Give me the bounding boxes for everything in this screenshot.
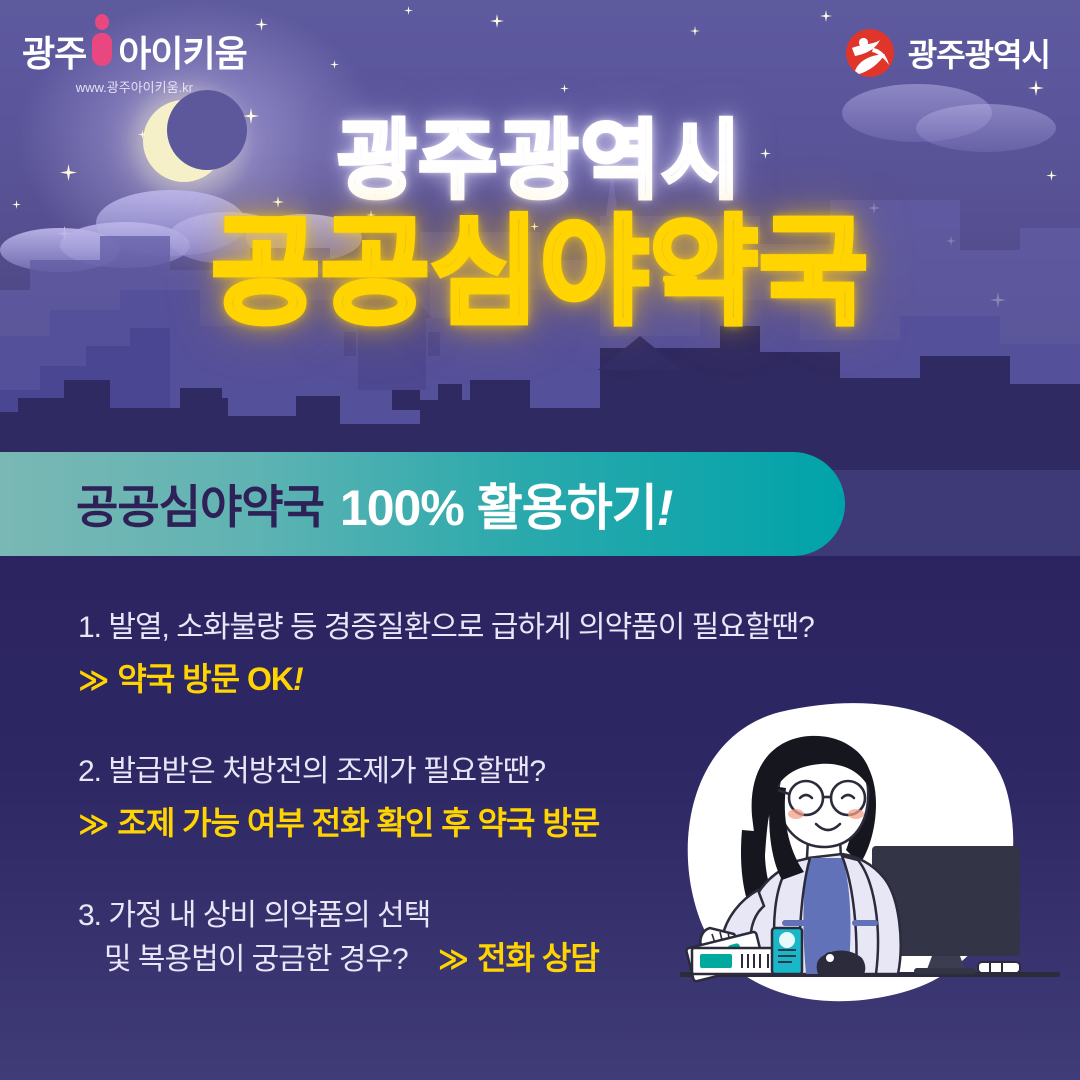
person-figure-icon [89, 24, 115, 66]
logo-url-text: www.광주아이키움.kr [22, 77, 247, 96]
poster-title: 광주광역시 공공심야약국 [0, 118, 1080, 332]
poster-canvas: 광주 아이키움 www.광주아이키움.kr 광주광역시 광주광역시 공공심야약국 [0, 0, 1080, 1080]
star-icon [1028, 80, 1044, 96]
gwangju-city-logo[interactable]: 광주광역시 [845, 28, 1050, 78]
star-icon [560, 84, 569, 93]
answer-row: ≫ 조제 가능 여부 전화 확인 후 약국 방문 [78, 798, 978, 844]
logo-word-a: 광주 [22, 36, 86, 72]
list-item: 3. 가정 내 상비 의약품의 선택 및 복용법이 궁금한 경우? ≫ 전화 상… [78, 896, 978, 979]
answer-row: ≫ 약국 방문 OK! [78, 654, 978, 700]
banner-light-text: 100% 활용하기! [340, 468, 672, 540]
star-icon [330, 60, 339, 69]
question-line2-label: 및 복용법이 궁금한 경우? [104, 940, 408, 980]
title-line-2: 공공심야약국 [0, 214, 1080, 332]
highlight-banner: 공공심야약국 100% 활용하기! [0, 452, 845, 556]
question-text: 3. 가정 내 상비 의약품의 선택 [78, 896, 978, 936]
title-line-1: 광주광역시 [0, 118, 1080, 204]
gwangju-emblem-icon [845, 28, 895, 78]
banner-dark-text: 공공심야약국 [76, 471, 324, 537]
list-item: 1. 발열, 소화불량 등 경증질환으로 급하게 의약품이 필요할땐? ≫ 약국… [78, 608, 978, 700]
logo-word-b: 아이키움 [118, 36, 246, 72]
answer-text: 조제 가능 여부 전화 확인 후 약국 방문 [117, 798, 599, 844]
answer-text: 전화 상담 [477, 937, 599, 980]
star-icon [404, 6, 413, 15]
list-item: 2. 발급받은 처방전의 조제가 필요할땐? ≫ 조제 가능 여부 전화 확인 … [78, 752, 978, 844]
question-text: 1. 발열, 소화불량 등 경증질환으로 급하게 의약품이 필요할땐? [78, 608, 978, 648]
logo-wordmark: 광주 아이키움 [22, 24, 247, 72]
question-text-line2: 및 복용법이 궁금한 경우? ≫ 전화 상담 [78, 937, 978, 980]
question-text: 2. 발급받은 처방전의 조제가 필요할땐? [78, 752, 978, 792]
answer-suffix: ! [293, 661, 303, 697]
banner-exclaim: ! [657, 480, 673, 536]
gwangju-ikium-logo[interactable]: 광주 아이키움 www.광주아이키움.kr [22, 24, 247, 96]
banner-light-label: 100% 활용하기 [340, 480, 657, 536]
star-icon [255, 18, 268, 31]
answer-row: ≫ 전화 상담 [438, 937, 599, 980]
chevron-right-icon: ≫ [438, 945, 468, 975]
star-icon [490, 14, 504, 28]
city-logo-label: 광주광역시 [908, 30, 1050, 76]
qa-list: 1. 발열, 소화불량 등 경증질환으로 급하게 의약품이 필요할땐? ≫ 약국… [78, 608, 978, 1014]
answer-text: 약국 방문 OK! [117, 654, 302, 700]
chevron-right-icon: ≫ [78, 810, 108, 840]
star-icon [820, 10, 832, 22]
star-icon [690, 26, 700, 36]
chevron-right-icon: ≫ [78, 666, 108, 696]
